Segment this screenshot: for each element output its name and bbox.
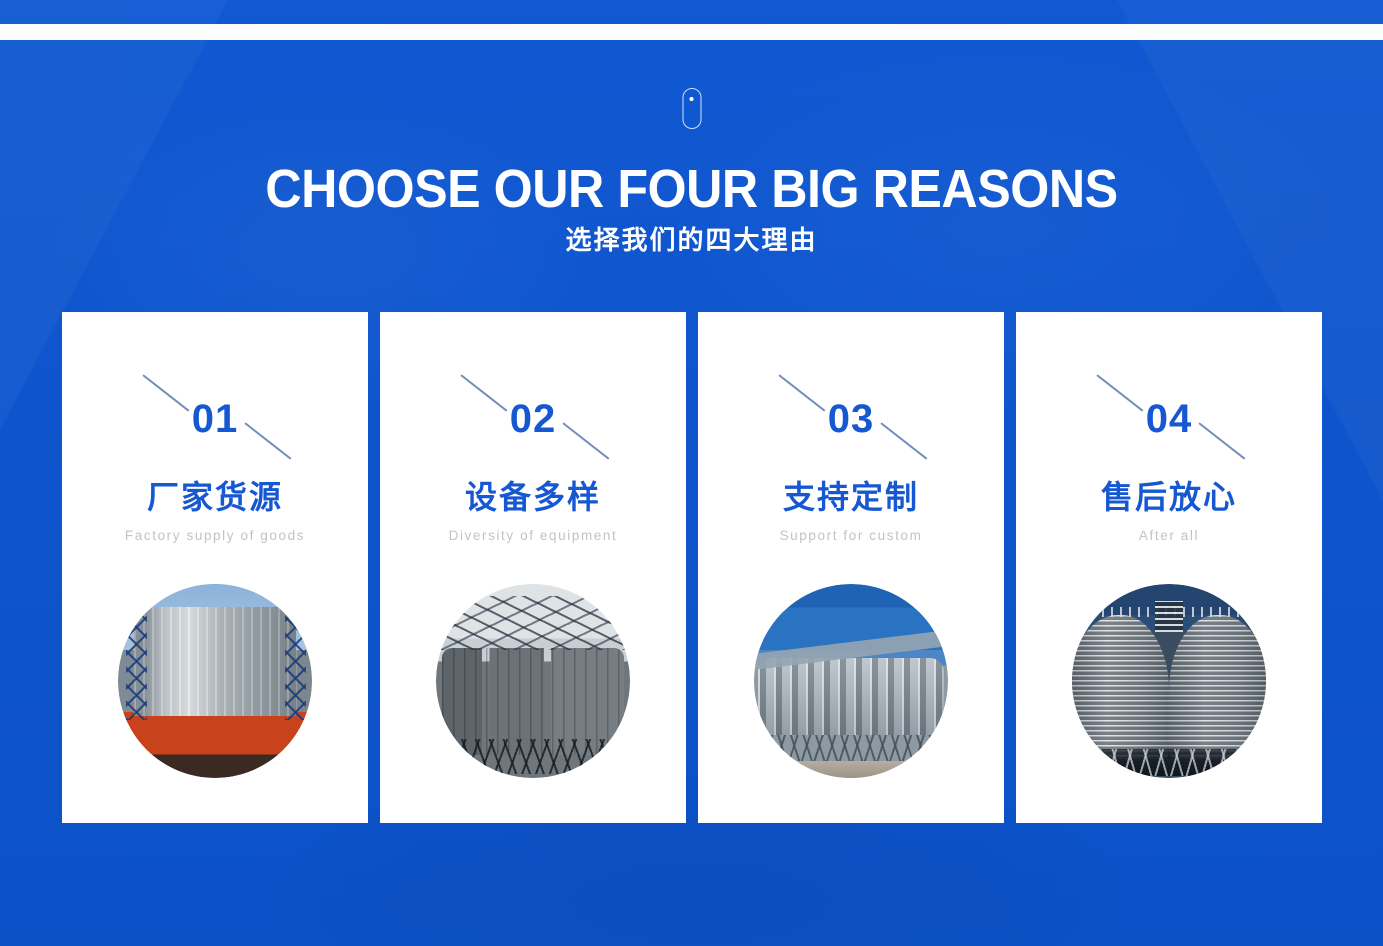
lattice-frame-left xyxy=(126,600,147,720)
page-title: CHOOSE OUR FOUR BIG REASONS xyxy=(48,158,1334,220)
card-title: 厂家货源 xyxy=(147,478,283,516)
diagonal-accent-line-bottom-icon xyxy=(1199,422,1246,459)
card-photo xyxy=(1072,584,1266,778)
diagonal-accent-line-bottom-icon xyxy=(881,422,928,459)
card-subtitle: Diversity of equipment xyxy=(426,526,641,545)
card-number: 02 xyxy=(510,399,557,439)
page-root: CHOOSE OUR FOUR BIG REASONS 选择我们的四大理由 01… xyxy=(0,0,1383,946)
reason-card[interactable]: 03 支持定制 Support for custom xyxy=(698,312,1004,823)
card-number: 03 xyxy=(828,399,875,439)
grey-silos-with-conveyor-photo xyxy=(436,584,630,778)
card-number: 01 xyxy=(192,399,239,439)
card-subtitle: After all xyxy=(1062,526,1277,545)
card-title: 设备多样 xyxy=(465,478,601,516)
diagonal-accent-line-bottom-icon xyxy=(245,422,292,459)
mouse-scroll-icon[interactable] xyxy=(682,88,701,129)
silo-support-legs xyxy=(446,739,621,774)
scroll-dot xyxy=(690,97,694,101)
card-subtitle: Support for custom xyxy=(744,526,959,545)
top-machinery xyxy=(1155,601,1182,632)
diagonal-accent-line-top-icon xyxy=(143,374,190,411)
card-number-row: 02 xyxy=(380,374,686,464)
reason-card-list: 01 厂家货源 Factory supply of goods 02 设备多样 … xyxy=(62,312,1322,823)
diagonal-accent-line-bottom-icon xyxy=(563,422,610,459)
reason-card[interactable]: 01 厂家货源 Factory supply of goods xyxy=(62,312,368,823)
top-white-band xyxy=(0,24,1383,40)
twin-corrugated-silos-photo xyxy=(1072,584,1266,778)
diagonal-accent-line-top-icon xyxy=(461,374,508,411)
card-title: 支持定制 xyxy=(783,478,919,516)
card-photo xyxy=(118,584,312,778)
card-photo xyxy=(436,584,630,778)
card-number-row: 03 xyxy=(698,374,1004,464)
card-number: 04 xyxy=(1146,399,1193,439)
diagonal-accent-line-top-icon xyxy=(1097,374,1144,411)
steel-silo-with-orange-support-photo xyxy=(118,584,312,778)
lattice-frame-right xyxy=(285,600,306,720)
ground-strip xyxy=(754,761,948,778)
diagonal-accent-line-top-icon xyxy=(779,374,826,411)
card-subtitle: Factory supply of goods xyxy=(108,526,323,545)
card-number-row: 04 xyxy=(1016,374,1322,464)
silo-row-blue-sky-photo xyxy=(754,584,948,778)
card-number-row: 01 xyxy=(62,374,368,464)
card-photo xyxy=(754,584,948,778)
reason-card[interactable]: 04 售后放心 After all xyxy=(1016,312,1322,823)
reason-card[interactable]: 02 设备多样 Diversity of equipment xyxy=(380,312,686,823)
silo-support-legs xyxy=(1088,749,1251,776)
card-title: 售后放心 xyxy=(1101,478,1237,516)
page-subtitle: 选择我们的四大理由 xyxy=(0,222,1383,258)
